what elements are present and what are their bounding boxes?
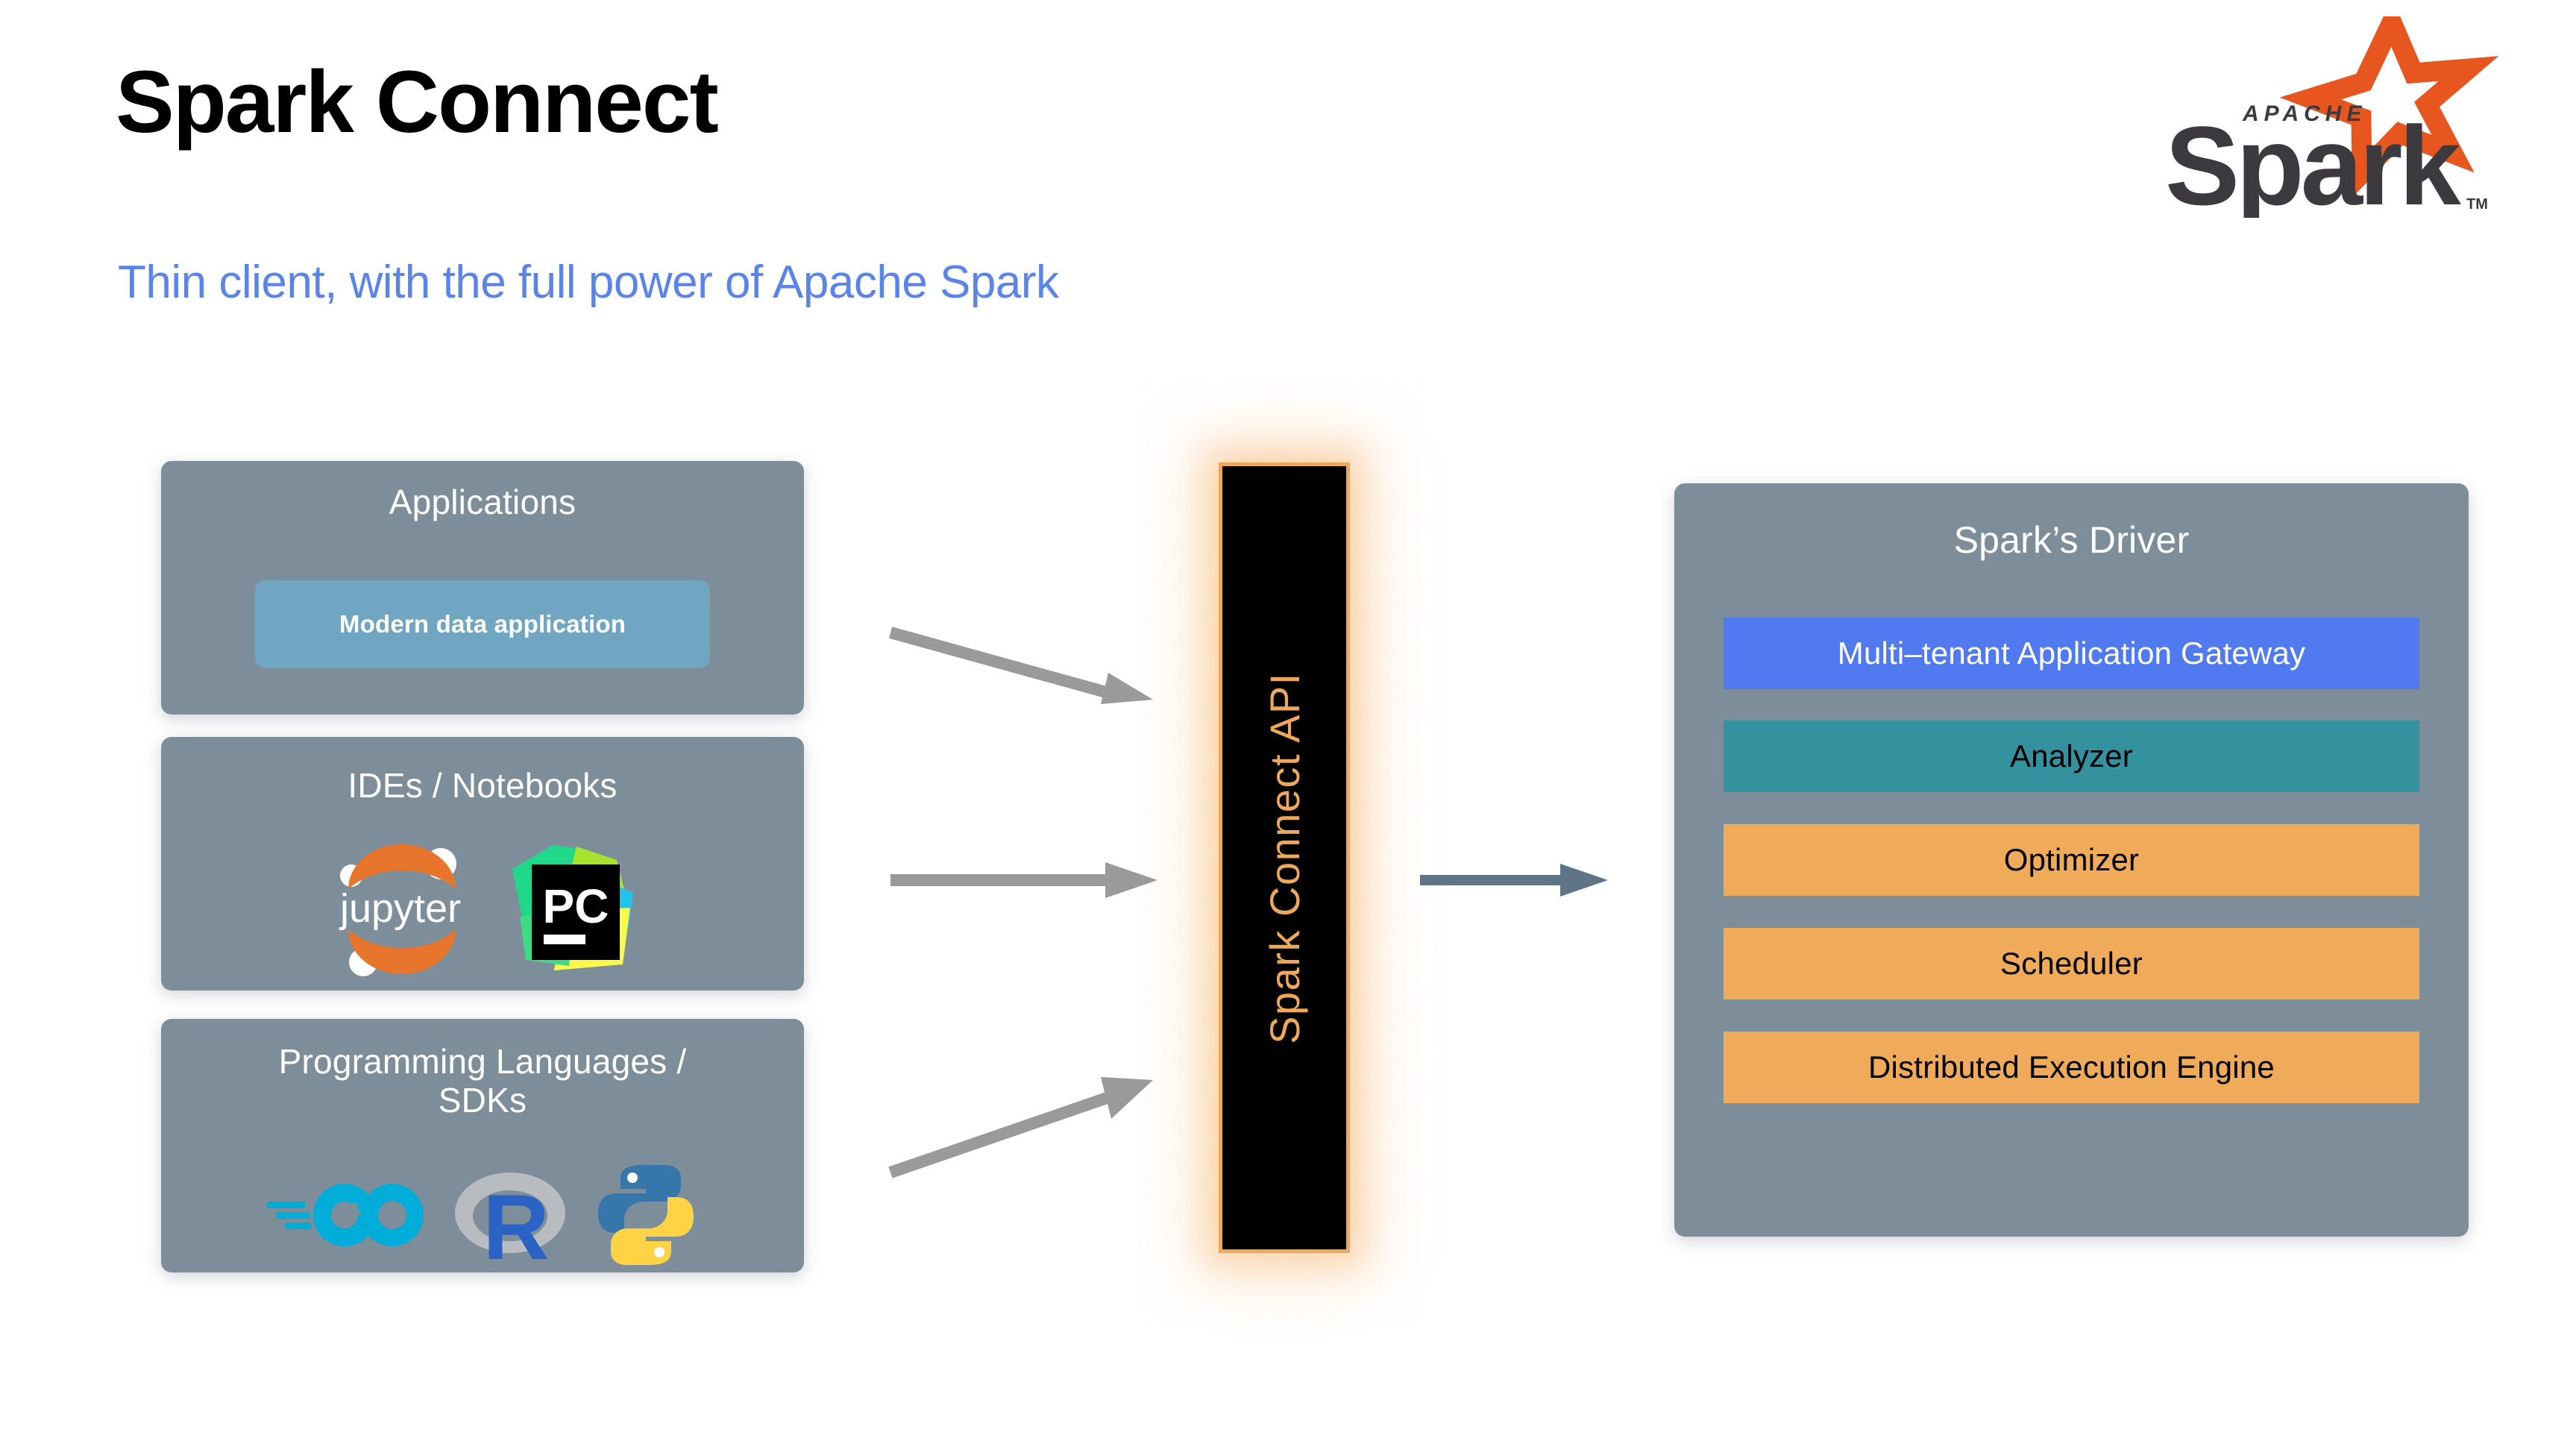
panel-ides-notebooks-title: IDEs / Notebooks: [161, 767, 804, 806]
driver-layer-scheduler[interactable]: Scheduler: [1724, 928, 2419, 999]
spark-connect-api-bar[interactable]: Spark Connect API: [1219, 462, 1350, 1253]
panel-spark-driver[interactable]: Spark’s Driver Multi–tenant Application …: [1674, 483, 2469, 1237]
r-logo: R: [452, 1159, 571, 1275]
driver-layer-multi-tenant-application-gateway[interactable]: Multi–tenant Application Gateway: [1724, 618, 2419, 689]
language-logo-row: R: [161, 1159, 804, 1275]
arrow-applications-to-api: [888, 619, 1163, 731]
page-subtitle: Thin client, with the full power of Apac…: [118, 260, 1058, 306]
pycharm-logo: PC: [505, 839, 638, 982]
arrow-languages-to-api: [888, 1067, 1163, 1186]
apache-spark-logo: APACHE Spark TM: [2129, 16, 2502, 218]
driver-layer-optimizer[interactable]: Optimizer: [1724, 824, 2419, 896]
spark-wordmark-text: Spark: [2165, 103, 2461, 218]
chip-modern-data-application[interactable]: Modern data application: [255, 580, 710, 668]
pycharm-wordmark-text: PC: [543, 879, 609, 933]
arrow-api-to-driver: [1417, 858, 1611, 903]
panel-applications[interactable]: Applications Modern data application: [161, 461, 804, 715]
trademark-text: TM: [2466, 196, 2488, 213]
panel-spark-driver-title: Spark’s Driver: [1674, 519, 2469, 561]
jupyter-wordmark-text: jupyter: [339, 886, 461, 931]
python-logo: [594, 1161, 698, 1273]
panel-programming-languages-title: Programming Languages / SDKs: [161, 1043, 804, 1120]
driver-layer-distributed-execution-engine[interactable]: Distributed Execution Engine: [1724, 1032, 2419, 1103]
panel-languages-title-line2: SDKs: [439, 1081, 527, 1120]
spark-connect-api-label: Spark Connect API: [1260, 672, 1309, 1044]
jupyter-logo: jupyter: [327, 834, 474, 987]
panel-applications-title: Applications: [161, 483, 804, 522]
arrow-ides-to-api: [888, 858, 1163, 903]
panel-languages-title-line1: Programming Languages /: [279, 1042, 687, 1081]
go-logo: [267, 1170, 430, 1264]
driver-layer-analyzer[interactable]: Analyzer: [1724, 721, 2419, 792]
ide-logo-row: jupyter PC: [161, 834, 804, 987]
page-title: Spark Connect: [116, 58, 717, 146]
panel-ides-notebooks[interactable]: IDEs / Notebooks jupyter PC: [161, 737, 804, 991]
r-wordmark-text: R: [483, 1176, 550, 1271]
panel-programming-languages[interactable]: Programming Languages / SDKs: [161, 1019, 804, 1272]
